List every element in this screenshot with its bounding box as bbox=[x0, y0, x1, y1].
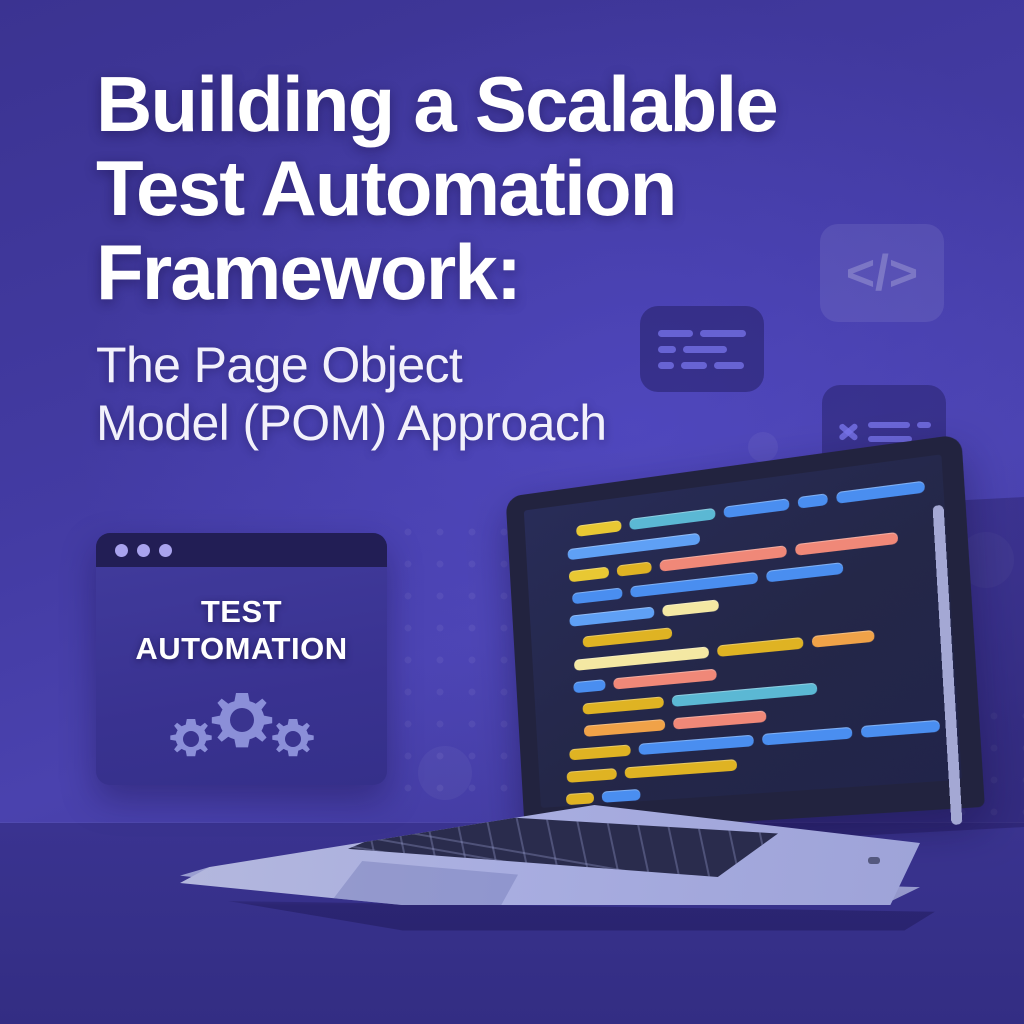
poster-canvas: Building a Scalable Test Automation Fram… bbox=[0, 0, 1024, 1024]
code-token-bar bbox=[795, 532, 898, 556]
code-token-bar bbox=[659, 545, 787, 571]
laptop-lid bbox=[506, 434, 985, 835]
code-token-bar bbox=[662, 599, 719, 616]
keyboard-col-line bbox=[695, 814, 711, 883]
keyboard-col-line bbox=[725, 814, 741, 883]
laptop-base-top bbox=[180, 805, 920, 905]
code-token-bar bbox=[630, 572, 758, 598]
code-token-bar bbox=[812, 630, 875, 648]
code-token-bar bbox=[629, 508, 716, 530]
code-brackets-icon: </> bbox=[820, 224, 944, 322]
keyboard-col-line bbox=[605, 814, 621, 883]
subtitle-block: The Page Object Model (POM) Approach bbox=[96, 336, 896, 452]
code-token-bar bbox=[602, 789, 641, 803]
code-lines-row bbox=[658, 330, 746, 337]
laptop-base bbox=[180, 805, 920, 925]
code-token-bar bbox=[672, 683, 818, 707]
keyboard-col-line bbox=[755, 814, 771, 883]
code-token-bar bbox=[639, 735, 754, 755]
code-token-bar bbox=[567, 533, 700, 561]
code-lines-card bbox=[640, 306, 764, 392]
window-dot-close-icon[interactable] bbox=[115, 544, 128, 557]
code-line-bar bbox=[658, 346, 676, 353]
code-token-bar bbox=[836, 481, 925, 504]
keyboard-col-line bbox=[635, 814, 651, 883]
code-token-bar bbox=[717, 637, 804, 657]
code-token-bar bbox=[584, 719, 666, 737]
code-token-bar bbox=[574, 646, 709, 671]
code-token-bar bbox=[573, 679, 606, 693]
code-token-bar bbox=[624, 759, 737, 779]
code-token-bar bbox=[566, 792, 594, 805]
keyboard-col-line bbox=[665, 814, 681, 883]
code-token-bar bbox=[566, 768, 617, 783]
code-token-bar bbox=[861, 720, 940, 738]
code-token-bar bbox=[723, 498, 789, 518]
code-token-bar bbox=[582, 696, 664, 714]
code-token-bar bbox=[617, 561, 652, 576]
code-token-bar bbox=[762, 727, 853, 746]
keyboard-col-line bbox=[515, 814, 531, 883]
headline-block: Building a Scalable Test Automation Fram… bbox=[96, 62, 896, 452]
code-token-bar bbox=[576, 520, 621, 537]
code-line-bar bbox=[700, 330, 746, 337]
power-led-icon bbox=[868, 857, 880, 864]
subtitle-line-2: Model (POM) Approach bbox=[96, 394, 896, 452]
code-token-bar bbox=[569, 567, 610, 583]
code-line-bar bbox=[681, 362, 707, 369]
code-line-bar bbox=[683, 346, 727, 353]
laptop-screen bbox=[524, 454, 962, 808]
code-token-bar bbox=[613, 669, 717, 690]
code-token-bar bbox=[673, 710, 767, 729]
page-title-line-2: Test Automation bbox=[96, 146, 896, 230]
subtitle-line-1: The Page Object bbox=[96, 336, 896, 394]
code-token-bar bbox=[582, 627, 672, 647]
page-title-line-3: Framework: bbox=[96, 230, 896, 314]
arrow-line-row bbox=[868, 422, 931, 428]
arrow-line-bar bbox=[917, 422, 931, 428]
laptop-illustration bbox=[180, 485, 970, 915]
keyboard-col-line bbox=[545, 814, 561, 883]
code-token-bar bbox=[766, 562, 843, 582]
keyboard-col-line bbox=[575, 814, 591, 883]
code-token-bar bbox=[569, 606, 654, 626]
code-token-bar bbox=[797, 493, 828, 508]
window-dot-minimize-icon[interactable] bbox=[137, 544, 150, 557]
code-angle-card: </> bbox=[820, 224, 944, 322]
page-title-line-1: Building a Scalable bbox=[96, 62, 896, 146]
code-lines-row bbox=[658, 346, 746, 353]
code-lines-row bbox=[658, 362, 746, 369]
code-token-bar bbox=[572, 587, 623, 604]
chevron-left-icon bbox=[838, 416, 860, 448]
code-line-bar bbox=[658, 330, 693, 337]
code-token-bar bbox=[569, 744, 631, 760]
arrow-line-bar bbox=[868, 422, 910, 428]
code-line-bar bbox=[714, 362, 744, 369]
window-dot-maximize-icon[interactable] bbox=[159, 544, 172, 557]
code-line-bar bbox=[658, 362, 674, 369]
